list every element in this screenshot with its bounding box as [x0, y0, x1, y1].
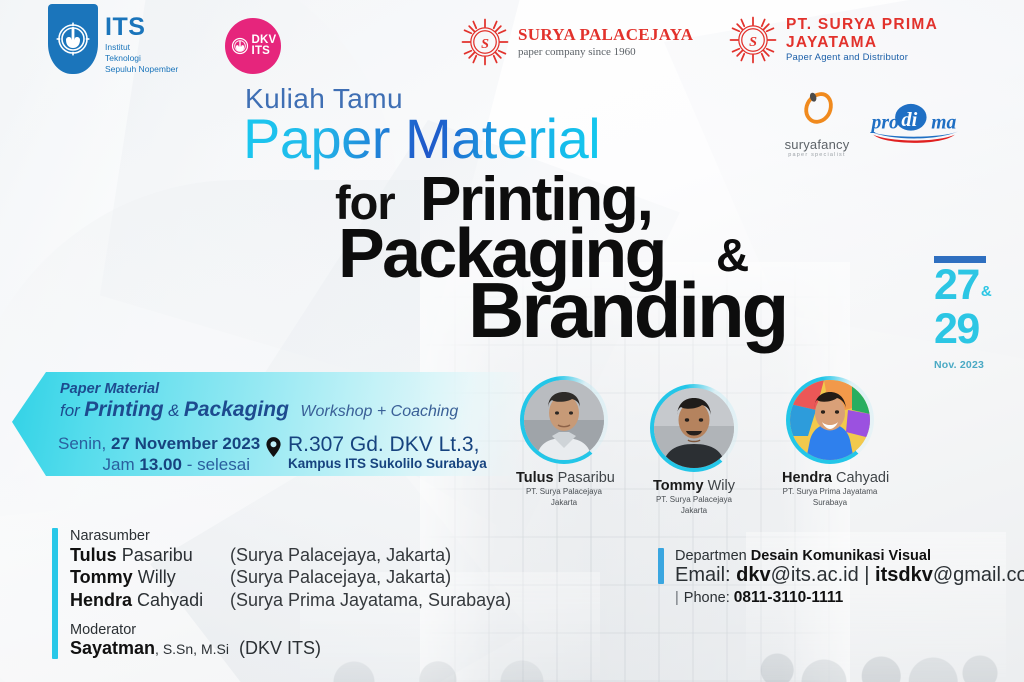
narasumber-org: (Surya Palacejaya, Jakarta) [230, 544, 451, 566]
speaker-avatar-ring [520, 376, 608, 464]
svg-text:di: di [901, 109, 917, 131]
banner-campus: Kampus ITS Sukolilo Surabaya [288, 456, 487, 471]
contact-dept-prefix: Departmen [675, 548, 751, 564]
svg-text:S: S [481, 36, 489, 52]
moderator-name: Sayatman [70, 638, 155, 658]
svg-text:S: S [749, 34, 757, 50]
speaker-name: Tommy Wily [646, 478, 742, 494]
date-badge-day1: 27 [934, 268, 979, 303]
banner-time-rest: - selesai [187, 455, 250, 474]
surya-prima-name: PT. SURYA PRIMA JAYATAMA [786, 16, 1024, 52]
avatar [790, 380, 870, 460]
speaker-lastname: Pasaribu [558, 470, 615, 486]
speaker-avatar-ring [650, 384, 738, 472]
banner-for: for [60, 401, 80, 420]
banner-printing: Printing [84, 398, 163, 421]
contact-email2-domain[interactable]: @gmail.com [933, 564, 1024, 586]
contact-phone-line: |Phone: 0811-3110-1111 [675, 589, 1024, 607]
banner-amp: & [168, 401, 179, 420]
contact-email1-user[interactable]: dkv [736, 564, 770, 586]
its-line2: Teknologi [105, 53, 141, 63]
surya-sunburst-icon: S [460, 17, 510, 67]
banner-workshop: Workshop + Coaching [300, 403, 458, 420]
contact-email-label: Email: [675, 564, 736, 586]
contact-email-line: Email: dkv@its.ac.id | itsdkv@gmail.com [675, 564, 1024, 587]
contact-email2-user[interactable]: itsdkv [875, 564, 933, 586]
banner-time: Jam 13.00 - selesai [58, 455, 250, 475]
svg-text:pro: pro [870, 111, 899, 133]
headline-title: Paper Material [243, 106, 600, 171]
contact-phone-divider-icon: | [675, 590, 679, 606]
speaker-card: Hendra Cahyadi PT. Surya Prima Jayatama … [782, 376, 878, 509]
its-line1: Institut [105, 42, 130, 52]
speaker-org: PT. Surya Palacejaya [646, 495, 742, 505]
avatar [654, 388, 734, 468]
speaker-city: Jakarta [646, 506, 742, 516]
contact-block: Departmen Desain Komunikasi Visual Email… [658, 548, 1024, 607]
banner-date: Senin, 27 November 2023 [58, 434, 260, 454]
surya-prima-jayatama-logo: S PT. SURYA PRIMA JAYATAMA Paper Agent a… [728, 15, 1024, 65]
its-acronym: ITS [105, 15, 178, 40]
narasumber-org: (Surya Prima Jayatama, Surabaya) [230, 589, 511, 611]
speaker-avatar-ring [786, 376, 874, 464]
speaker-card: Tommy Wily PT. Surya Palacejaya Jakarta [646, 384, 742, 517]
speaker-lastname: Wily [708, 478, 735, 494]
narasumber-row: Tulus Pasaribu (Surya Palacejaya, Jakart… [70, 544, 511, 566]
banner-date-value: 27 November 2023 [111, 434, 260, 453]
its-shield-icon [48, 4, 98, 74]
banner-day: Senin, [58, 434, 106, 453]
narasumber-accent-bar [52, 528, 58, 659]
contact-phone-value[interactable]: 0811-3110-1111 [734, 589, 844, 606]
narasumber-org: (Surya Palacejaya, Jakarta) [230, 566, 451, 588]
narasumber-row: Tommy Willy (Surya Palacejaya, Jakarta) [70, 566, 511, 588]
speaker-photo-icon [790, 380, 870, 460]
surya-palacejaya-tagline: paper company since 1960 [518, 46, 693, 59]
speaker-photo-icon [654, 388, 734, 468]
logo-row: ITS Institut Teknologi Sepuluh Nopember … [0, 0, 1024, 92]
its-logo-text: ITS Institut Teknologi Sepuluh Nopember [105, 4, 178, 76]
speaker-card: Tulus Pasaribu PT. Surya Palacejaya Jaka… [516, 376, 612, 509]
speaker-list: Tulus Pasaribu PT. Surya Palacejaya Jaka… [516, 376, 916, 496]
banner-packaging: Packaging [184, 398, 289, 421]
moderator-row: Sayatman, S.Sn, M.Si(DKV ITS) [70, 638, 511, 659]
poster-canvas: ITS Institut Teknologi Sepuluh Nopember … [0, 0, 1024, 682]
suryafancy-sub: paper specialist [775, 152, 859, 158]
narasumber-firstname: Tommy [70, 567, 133, 587]
surya-prima-tagline: Paper Agent and Distributor [786, 53, 1024, 64]
speaker-city: Jakarta [516, 498, 612, 508]
narasumber-firstname: Tulus [70, 545, 117, 565]
narasumber-heading: Narasumber [70, 528, 511, 544]
svg-text:ma: ma [931, 111, 956, 133]
suryafancy-name: suryafancy [775, 137, 859, 152]
headline-branding: Branding [468, 265, 786, 356]
speaker-firstname: Tulus [516, 470, 554, 486]
narasumber-block: Narasumber Tulus Pasaribu (Surya Palacej… [52, 528, 511, 659]
narasumber-row: Hendra Cahyadi (Surya Prima Jayatama, Su… [70, 589, 511, 611]
dkv-its-logo: DKV ITS [225, 18, 281, 74]
date-badge-amp: & [981, 286, 992, 298]
contact-phone-label: Phone: [684, 590, 734, 606]
surya-palacejaya-logo: S SURYA PALACEJAYA paper company since 1… [460, 17, 693, 67]
speaker-photo-icon [524, 380, 604, 460]
narasumber-lastname: Willy [138, 567, 176, 587]
dkv-gear-icon [230, 36, 250, 56]
dkv-line2: ITS [252, 46, 277, 57]
speaker-name: Tulus Pasaribu [516, 470, 612, 486]
banner-topics: for Printing & Packaging Workshop + Coac… [60, 398, 458, 422]
speaker-city: Surabaya [782, 498, 878, 508]
date-badge-day2: 29 [934, 305, 1006, 354]
banner-subject: Paper Material [60, 381, 159, 397]
speaker-firstname: Tommy [653, 478, 704, 494]
speaker-org: PT. Surya Palacejaya [516, 487, 612, 497]
suryafancy-swirl-icon [794, 88, 840, 134]
banner-time-label: Jam [103, 455, 135, 474]
banner-time-value: 13.00 [139, 455, 182, 474]
speaker-firstname: Hendra [782, 470, 832, 486]
moderator-dept: (DKV ITS) [239, 638, 321, 658]
its-line3: Sepuluh Nopember [105, 64, 178, 74]
banner-room: R.307 Gd. DKV Lt.3, [288, 433, 479, 457]
contact-email-separator: | [859, 564, 875, 586]
its-logo: ITS Institut Teknologi Sepuluh Nopember [48, 4, 178, 76]
narasumber-lastname: Cahyadi [137, 590, 203, 610]
map-pin-icon [265, 437, 282, 460]
date-badge: 27 & 29 Nov. 2023 [934, 256, 1006, 371]
contact-accent-bar [658, 548, 664, 584]
surya-prima-sunburst-icon: S [728, 15, 778, 65]
date-badge-month: Nov. 2023 [934, 359, 1006, 371]
contact-department: Departmen Desain Komunikasi Visual [675, 548, 1024, 564]
dkv-logo-text: DKV ITS [252, 35, 277, 56]
narasumber-firstname: Hendra [70, 590, 132, 610]
speaker-org: PT. Surya Prima Jayatama [782, 487, 878, 497]
speaker-name: Hendra Cahyadi [782, 470, 878, 486]
contact-email1-domain[interactable]: @its.ac.id [771, 564, 859, 586]
moderator-degree: , S.Sn, M.Si [155, 641, 229, 657]
speaker-lastname: Cahyadi [836, 470, 889, 486]
suryafancy-logo: suryafancy paper specialist [775, 88, 859, 158]
avatar [524, 380, 604, 460]
moderator-heading: Moderator [70, 622, 511, 638]
prodima-wordmark-icon: pro di ma [866, 100, 962, 144]
prodima-logo: pro di ma [866, 100, 962, 144]
contact-dept-name: Desain Komunikasi Visual [751, 548, 931, 564]
surya-palacejaya-name: SURYA PALACEJAYA [518, 25, 693, 45]
narasumber-lastname: Pasaribu [122, 545, 193, 565]
